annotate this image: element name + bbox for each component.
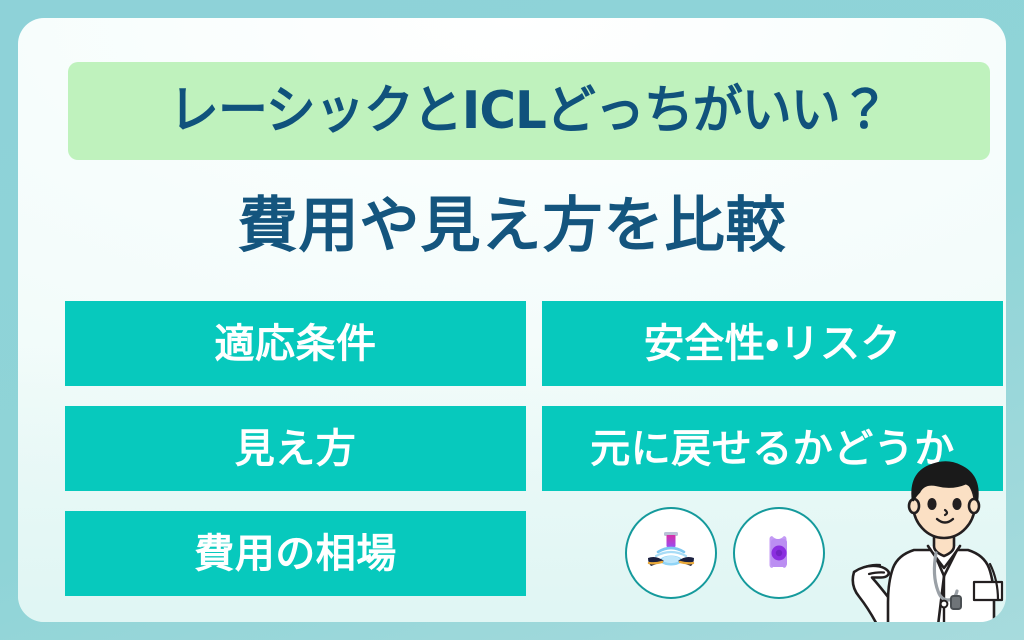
icl-lens-icon <box>733 507 825 599</box>
doctor-illustration <box>840 454 1006 622</box>
topic-box-見え方: 見え方 <box>65 406 526 491</box>
headline-text: レーシックとICLどっちがいい？ <box>169 85 889 137</box>
topic-box-安全性リスク: 安全性・リスク <box>542 301 1003 386</box>
topic-label: 安全性・リスク <box>644 324 901 364</box>
headline-chip: レーシックとICLどっちがいい？ <box>68 62 990 160</box>
subtitle-block: 費用や見え方を比較 <box>18 180 1006 272</box>
inner-panel: レーシックとICLどっちがいい？ 費用や見え方を比較 適応条件 安全性・リスク … <box>18 18 1006 622</box>
topic-label: 見え方 <box>235 429 357 469</box>
topic-box-費用の相場: 費用の相場 <box>65 511 526 596</box>
topic-row: 適応条件 安全性・リスク <box>65 301 991 386</box>
banner-canvas: レーシックとICLどっちがいい？ 費用や見え方を比較 適応条件 安全性・リスク … <box>0 0 1024 640</box>
subtitle-text: 費用や見え方を比較 <box>238 196 787 256</box>
topic-label: 適応条件 <box>215 324 377 364</box>
topic-label: 費用の相場 <box>194 534 397 574</box>
topic-box-適応条件: 適応条件 <box>65 301 526 386</box>
lasik-laser-icon <box>625 507 717 599</box>
procedure-icon-cluster <box>625 507 825 599</box>
